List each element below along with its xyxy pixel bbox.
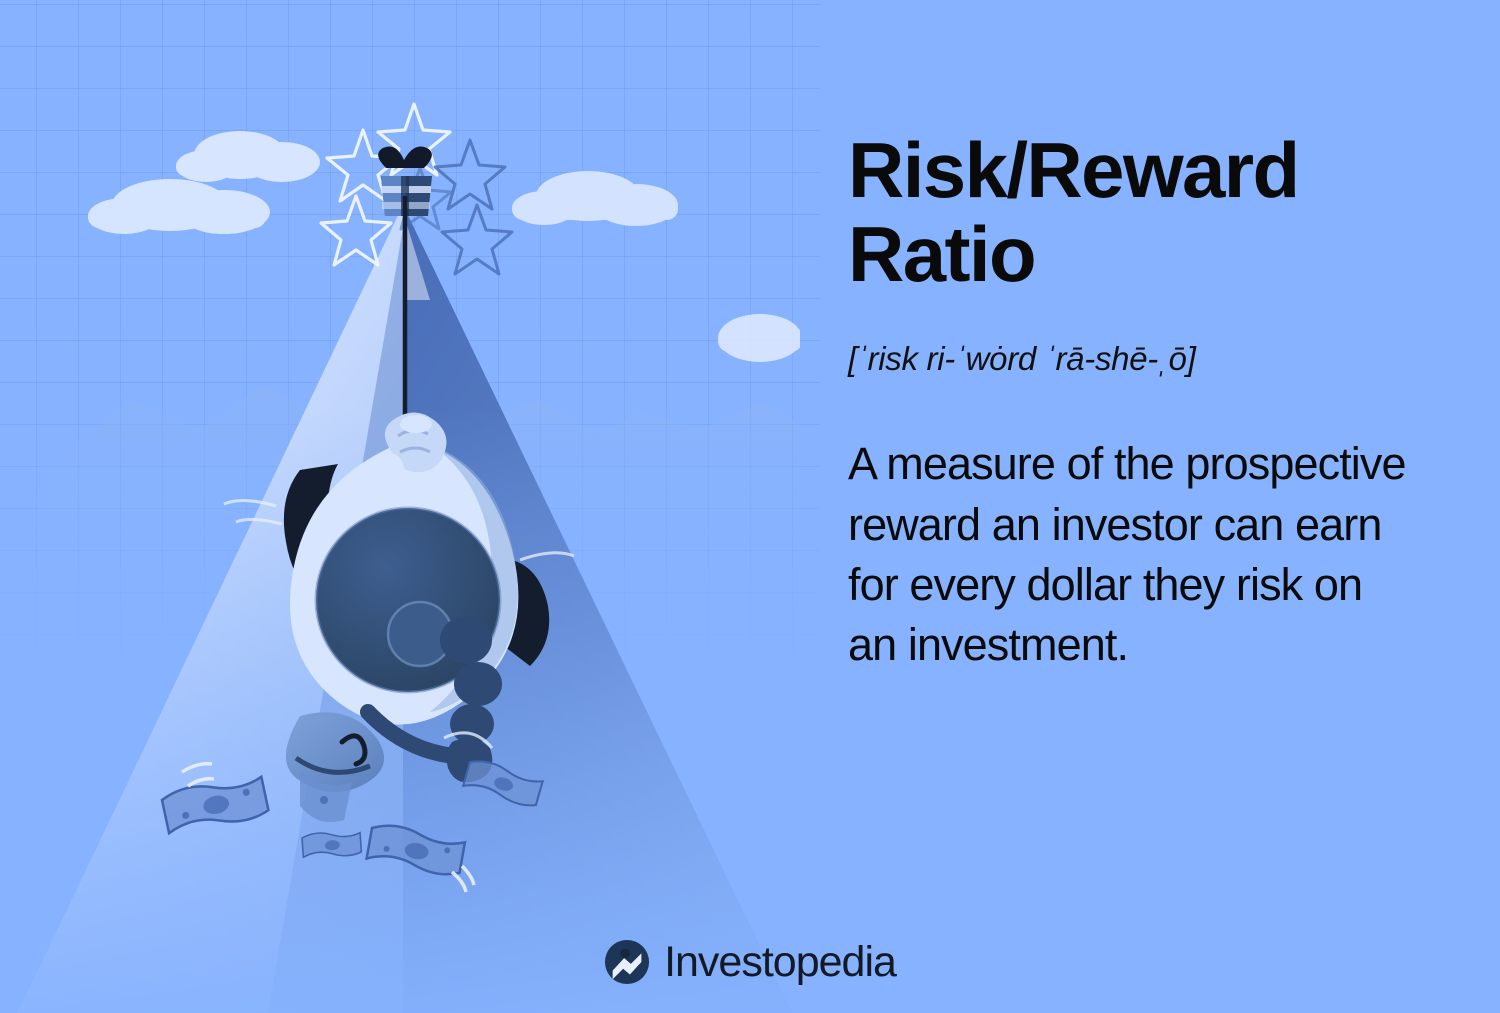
investopedia-wordmark: Investopedia	[664, 941, 896, 984]
text-column: Risk/RewardRatio [ˈrisk ri-ˈwȯrd ˈrā-shē…	[848, 128, 1428, 676]
pronunciation: [ˈrisk ri-ˈwȯrd ˈrā-shē-ˌō]	[848, 340, 1428, 378]
cloud-far-right	[718, 314, 800, 362]
investopedia-logo[interactable]: Investopedia	[0, 939, 1500, 985]
investopedia-bolt-icon	[604, 939, 650, 985]
cloud-right	[512, 171, 678, 226]
illustration	[0, 0, 800, 1013]
cloud-left	[88, 179, 270, 234]
cloud-upper-left	[176, 131, 320, 182]
title-line-2: Ratio	[848, 210, 1035, 298]
title-line-1: Risk/Reward	[848, 126, 1299, 214]
page-title: Risk/RewardRatio	[848, 128, 1388, 296]
definition-text: A measure of the prospective reward an i…	[848, 434, 1408, 675]
definition-card: Risk/RewardRatio [ˈrisk ri-ˈwȯrd ˈrā-shē…	[0, 0, 1500, 1013]
